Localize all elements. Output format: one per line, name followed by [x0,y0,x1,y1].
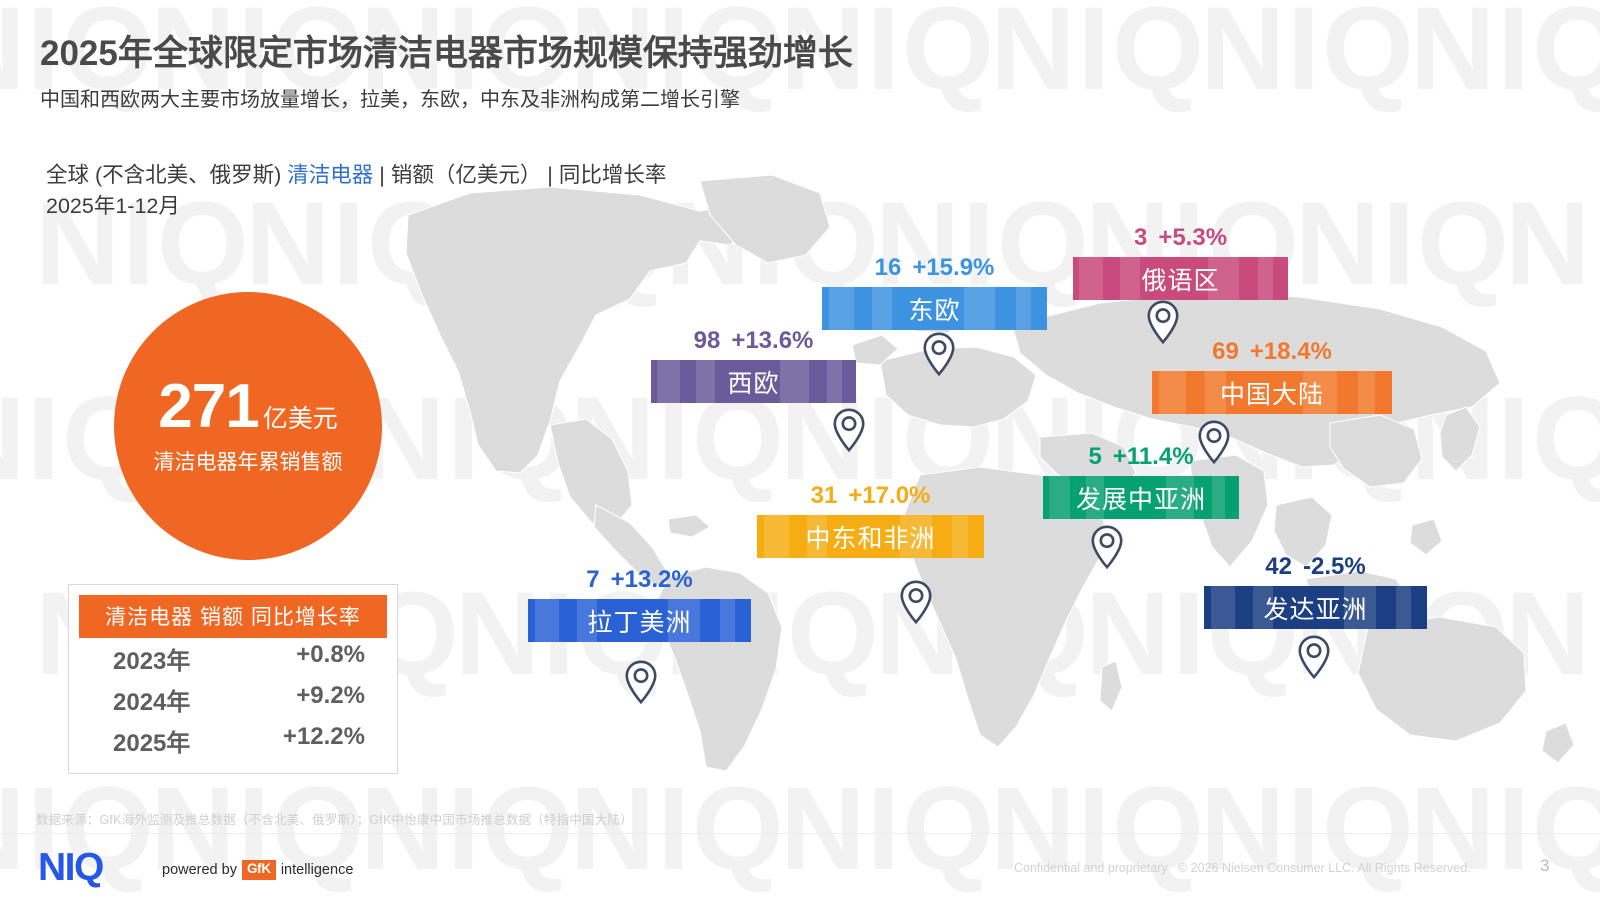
bar-decoration [657,360,680,403]
region-growth: +13.2% [611,566,693,593]
watermark-text: NIQ [1505,185,1600,303]
metric-descriptor-row: 全球 (不含北美、俄罗斯) 清洁电器 | 销额（亿美元） | 同比增长率 [46,160,666,191]
table-row: 2024年+9.2% [79,679,387,720]
map-pin-developed-asia[interactable] [1298,635,1330,679]
source-note: 数据来源：GfK海外监测及推总数据（不含北美、俄罗斯）；GfK中怡康中国市场推总… [36,809,633,828]
region-value: 69 [1212,338,1239,365]
bar-decoration [696,360,714,403]
hero-caption: 清洁电器年累销售额 [154,446,343,476]
region-callout-developing-asia[interactable]: 5+11.4%发展中亚洲 [1043,445,1239,519]
bar-decoration [1396,586,1412,629]
region-label: 发达亚洲 [1263,590,1367,626]
header: 2025年全球限定市场清洁电器市场规模保持强劲增长 中国和西欧两大主要市场放量增… [40,34,853,113]
metric-suffix: | 销额（亿美元） | 同比增长率 [373,163,666,187]
watermark-text: NIQ [1295,185,1511,303]
powered-suffix: intelligence [281,862,354,878]
region-growth: +18.4% [1250,338,1332,365]
region-growth: +13.6% [731,327,813,354]
map-pin-west-europe[interactable] [833,408,865,452]
watermark-text: NIQ [1505,575,1600,693]
region-bar-west-europe[interactable]: 西欧 [651,360,856,403]
metric-descriptor: 全球 (不含北美、俄罗斯) 清洁电器 | 销额（亿美元） | 同比增长率 202… [46,160,666,222]
bar-decoration [1211,586,1236,629]
bar-decoration [1016,287,1032,330]
region-label: 拉丁美洲 [587,603,691,639]
region-bar-developing-asia[interactable]: 发展中亚洲 [1043,476,1239,519]
bar-decoration [1079,257,1103,300]
bar-decoration [1358,371,1375,414]
slide-root: NIQNIQNIQNIQNIQNIQNIQNIQNIQNIQNIQNIQNIQN… [0,0,1600,900]
region-value: 3 [1134,224,1147,251]
table-body: 2023年+0.8%2024年+9.2%2025年+12.2% [79,638,387,761]
map-pin-east-europe[interactable] [923,332,955,376]
region-label: 西欧 [727,364,779,400]
region-bar-developed-asia[interactable]: 发达亚洲 [1204,586,1427,629]
region-bar-east-europe[interactable]: 东欧 [822,287,1047,330]
bar-decoration [720,599,736,642]
powered-prefix: powered by [162,862,237,878]
hero-value-row: 271 亿美元 [158,376,337,438]
region-bar-russia[interactable]: 俄语区 [1073,257,1288,300]
footer: NIQ powered by GfK intelligence Confiden… [0,833,1600,900]
region-stat-developed-asia: 42-2.5% [1204,555,1427,579]
region-stat-china: 69+18.4% [1152,340,1392,364]
region-stat-west-europe: 98+13.6% [651,329,856,353]
region-callout-china[interactable]: 69+18.4%中国大陆 [1152,340,1392,414]
region-callout-west-europe[interactable]: 98+13.6%西欧 [651,329,856,403]
confidentiality-notice: Confidential and proprietary [1014,861,1168,875]
region-stat-east-europe: 16+15.9% [822,256,1047,280]
region-value: 5 [1088,443,1101,470]
table-header: 清洁电器 销额 同比增长率 [79,595,387,638]
region-value: 31 [811,482,838,509]
watermark-text: NIQ [1410,380,1600,498]
region-growth: +5.3% [1158,224,1227,251]
bar-decoration [1120,257,1139,300]
map-pin-latam[interactable] [625,660,657,704]
metric-prefix: 全球 (不含北美、俄罗斯) [46,163,287,187]
metric-highlight: 清洁电器 [287,163,373,187]
bar-decoration [964,287,996,330]
table-cell-growth: +0.8% [296,641,365,676]
bar-decoration [535,599,560,642]
niq-logo: NIQ [38,848,103,887]
region-callout-east-europe[interactable]: 16+15.9%东欧 [822,256,1047,330]
region-growth: +17.0% [848,482,930,509]
bar-decoration [872,287,892,330]
region-bar-latam[interactable]: 拉丁美洲 [528,599,751,642]
region-bar-china[interactable]: 中国大陆 [1152,371,1392,414]
region-stat-russia: 3+5.3% [1073,226,1288,250]
bar-decoration [1212,476,1226,519]
region-label: 发展中亚洲 [1076,480,1206,516]
watermark-text: NIQ [360,380,576,498]
bar-decoration [1159,371,1185,414]
page-title: 2025年全球限定市场清洁电器市场规模保持强劲增长 [40,34,853,74]
copyright-notice: © 2026 Nielsen Consumer LLC. All Rights … [1178,861,1471,875]
region-value: 42 [1265,553,1292,580]
region-growth: +15.9% [912,254,994,281]
region-stat-latam: 7+13.2% [528,568,751,592]
page-number: 3 [1540,856,1549,876]
table-cell-year: 2024年 [113,682,190,717]
region-callout-russia[interactable]: 3+5.3%俄语区 [1073,226,1288,300]
region-bar-mea[interactable]: 中东和非洲 [757,515,984,558]
metric-period: 2025年1-12月 [46,191,666,222]
bar-decoration [1258,257,1273,300]
region-callout-latam[interactable]: 7+13.2%拉丁美洲 [528,568,751,642]
hero-value: 271 [158,376,258,438]
table-cell-growth: +12.2% [283,723,365,758]
map-pin-developing-asia[interactable] [1091,525,1123,569]
table-cell-year: 2023年 [113,641,190,676]
watermark-text: NIQ [1200,0,1416,108]
map-pin-mea[interactable] [900,580,932,624]
bar-decoration [764,515,789,558]
region-label: 中东和非洲 [805,519,935,555]
region-stat-mea: 31+17.0% [757,484,984,508]
page-subtitle: 中国和西欧两大主要市场放量增长，拉美，东欧，中东及非洲构成第二增长引擎 [40,87,853,113]
region-callout-mea[interactable]: 31+17.0%中东和非洲 [757,484,984,558]
region-growth: -2.5% [1303,553,1366,580]
table-row: 2025年+12.2% [79,720,387,761]
region-value: 16 [875,254,902,281]
powered-by-gfk: powered by GfK intelligence [162,860,353,880]
table-row: 2023年+0.8% [79,638,387,679]
region-value: 98 [694,327,721,354]
bar-decoration [1049,476,1071,519]
bar-decoration [952,515,968,558]
table-cell-growth: +9.2% [296,682,365,717]
gfk-logo: GfK [242,860,276,880]
region-label: 俄语区 [1141,261,1219,297]
hero-unit: 亿美元 [263,399,338,435]
region-callout-developed-asia[interactable]: 42-2.5%发达亚洲 [1204,555,1427,629]
yearly-growth-table: 清洁电器 销额 同比增长率 2023年+0.8%2024年+9.2%2025年+… [68,584,398,774]
region-value: 7 [586,566,599,593]
hero-total-circle: 271 亿美元 清洁电器年累销售额 [114,292,382,560]
bar-decoration [829,287,854,330]
watermark-text: NIQ [990,0,1206,108]
watermark-text: NIQ [1410,0,1600,108]
region-label: 东欧 [908,291,960,327]
region-growth: +11.4% [1113,443,1194,470]
bar-decoration [827,360,841,403]
table-cell-year: 2025年 [113,723,190,758]
map-pin-russia[interactable] [1147,300,1179,344]
region-stat-developing-asia: 5+11.4% [1043,445,1239,469]
region-label: 中国大陆 [1220,375,1324,411]
bar-decoration [780,360,809,403]
